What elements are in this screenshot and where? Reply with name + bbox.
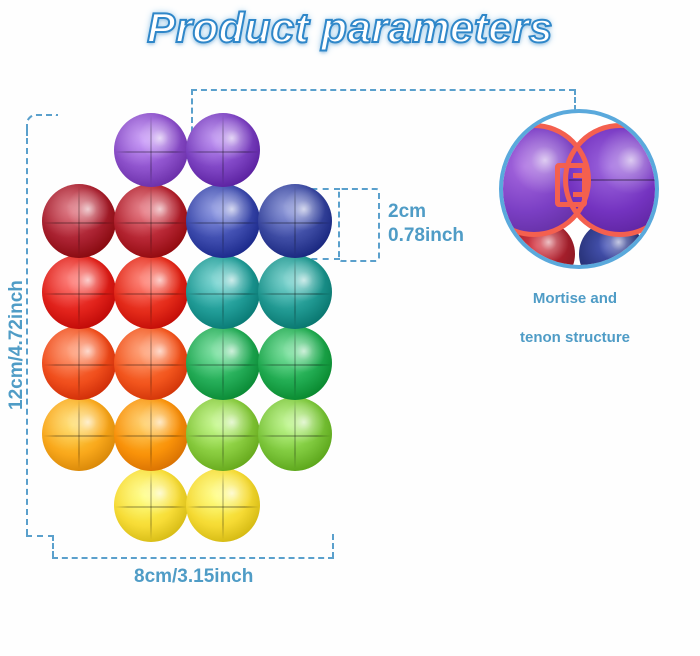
ball-mold-seam (294, 328, 296, 398)
ball-mold-seam (150, 186, 152, 256)
ball-mold-seam (150, 328, 152, 398)
ball-teal-r3c3 (186, 255, 260, 329)
ball-mold-seam (222, 257, 224, 327)
ball-mold-seam (294, 186, 296, 256)
ball-light-green-r5c3 (186, 397, 260, 471)
ball-green-r4c3 (186, 326, 260, 400)
ball-purple-r1c2 (114, 113, 188, 187)
ball-grid (0, 0, 360, 560)
ball-mold-seam (294, 257, 296, 327)
ball-mold-seam (78, 328, 80, 398)
magnifier-circle (499, 109, 659, 269)
detail-caption-line-1: Mortise and (487, 289, 663, 309)
ball-dark-red-r2c2 (114, 184, 188, 258)
ball-yellow-r6c3 (186, 468, 260, 542)
ball-mold-seam (150, 115, 152, 185)
ball-yellow-r6c2 (114, 468, 188, 542)
product-parameters-figure: Product parameters 12cm/4.72inch 8cm/3.1… (0, 0, 700, 656)
ball-mold-seam (222, 186, 224, 256)
ball-mold-seam (78, 399, 80, 469)
ball-mold-seam (150, 399, 152, 469)
ball-mold-seam (78, 186, 80, 256)
ball-mold-seam (222, 470, 224, 540)
width-dimension-label: 8cm/3.15inch (134, 566, 253, 588)
detail-leader-drop (574, 89, 576, 111)
ball-mold-seam (222, 328, 224, 398)
ball-dark-red-r2c1 (42, 184, 116, 258)
ball-blue-r2c4 (258, 184, 332, 258)
detail-callout: Mortise and tenon structure (499, 109, 651, 309)
ball-size-label-inch: 0.78inch (388, 224, 464, 248)
ball-mold-seam (294, 399, 296, 469)
ball-green-r4c4 (258, 326, 332, 400)
ball-mold-seam (150, 470, 152, 540)
ball-orange-r5c2 (114, 397, 188, 471)
ball-light-green-r5c4 (258, 397, 332, 471)
ball-red-r3c2 (114, 255, 188, 329)
ball-red-r3c1 (42, 255, 116, 329)
ball-size-label-cm: 2cm (388, 200, 426, 224)
ball-teal-r3c4 (258, 255, 332, 329)
ball-orange-red-r4c2 (114, 326, 188, 400)
magnifier-contents (503, 113, 655, 265)
ball-orange-red-r4c1 (42, 326, 116, 400)
detail-caption-line-2: tenon structure (487, 328, 663, 348)
ball-mold-seam (222, 399, 224, 469)
ball-mold-seam (150, 257, 152, 327)
ball-blue-r2c3 (186, 184, 260, 258)
ball-mold-seam (222, 115, 224, 185)
ball-amber-r5c1 (42, 397, 116, 471)
tenon-neck (573, 173, 587, 197)
ball-mold-seam (78, 257, 80, 327)
ball-purple-r1c3 (186, 113, 260, 187)
detail-caption: Mortise and tenon structure (487, 269, 663, 367)
